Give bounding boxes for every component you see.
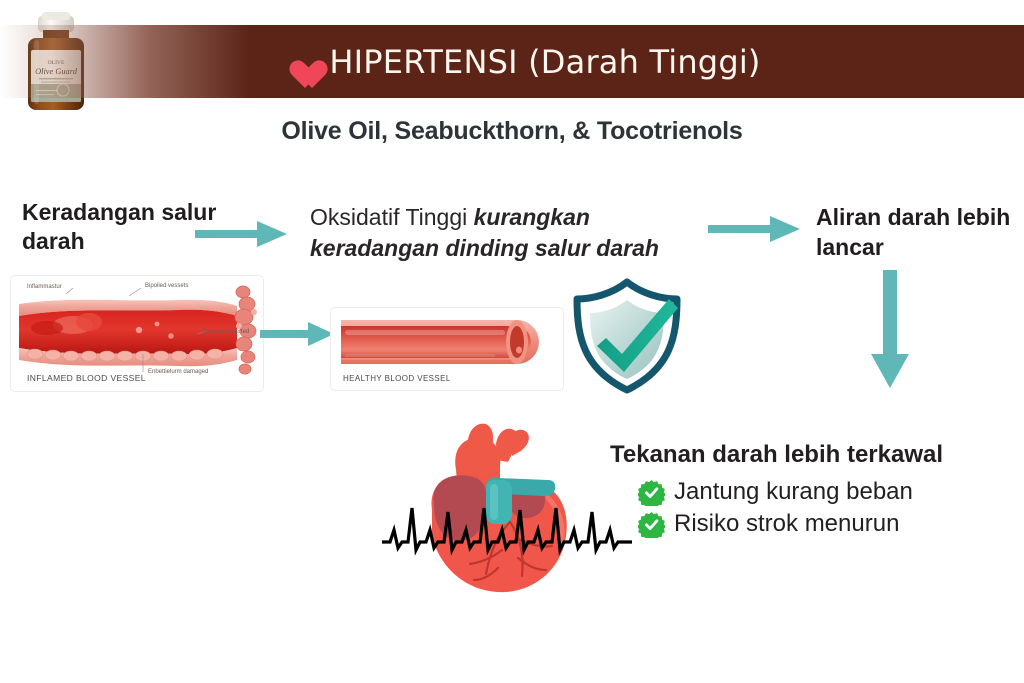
micro-label-endothelium: Enbettielurm damaged [148,369,208,375]
micro-label-bacoeint: Bacoeint inserted [203,329,251,336]
inflamed-vessel-caption: INFLAMED BLOOD VESSEL [27,373,146,383]
flow-step-3-label: Aliran darah lebih lancar [816,203,1016,263]
list-item: Risiko strok menurun [638,510,913,538]
heart-icon [283,47,317,77]
header-banner: HIPERTENSI (Darah Tinggi) [0,25,1024,98]
check-badge-icon [638,511,665,538]
arrow-right-icon-1 [193,217,289,256]
flow-step-2-prefix: Oksidatif Tinggi [310,204,474,230]
list-item-label: Risiko strok menurun [674,510,899,538]
shield-check-icon [568,278,686,399]
healthy-vessel-image: HEALTHY BLOOD VESSEL [330,307,564,391]
list-item: Jantung kurang beban [638,478,913,506]
ingredients-subtitle: Olive Oil, Seabuckthorn, & Tocotrienols [0,117,1024,146]
flow-step-2-label: Oksidatif Tinggi kurangkan keradangan di… [310,202,660,264]
page-title: HIPERTENSI (Darah Tinggi) [329,43,760,81]
inflamed-vessel-image: Inflammastur Bipoiled vessets Bacoeint i… [10,275,264,392]
check-badge-icon [638,479,665,506]
outcome-list: Jantung kurang beban Risiko strok menuru… [638,478,913,542]
outcome-heading: Tekanan darah lebih terkawal [610,441,943,469]
list-item-label: Jantung kurang beban [674,478,913,506]
ecg-waveform-icon [382,500,632,565]
arrow-down-icon [866,268,914,395]
arrow-right-icon-2 [258,318,336,355]
healthy-vessel-caption: HEALTHY BLOOD VESSEL [343,374,451,383]
infographic-canvas: OLIVE Olive Guard HIPERTENSI (Darah Ting… [0,0,1024,683]
micro-label-inflammastur: Inflammastur [27,284,62,290]
micro-label-bipoiled-vessets: Bipoiled vessets [145,283,188,289]
arrow-right-icon-3 [706,212,802,251]
